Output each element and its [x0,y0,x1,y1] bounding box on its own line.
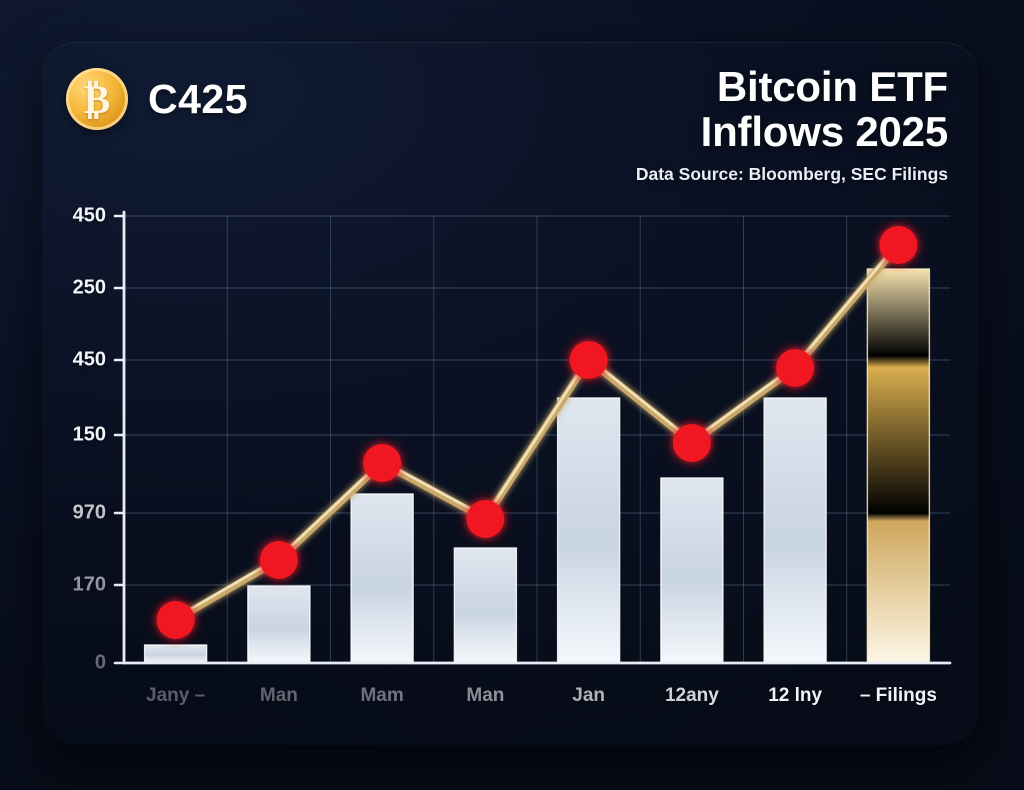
data-point-marker [879,226,917,264]
bar [558,398,620,663]
data-point-marker [260,541,298,579]
brand-name: C425 [148,76,248,123]
data-point-marker [570,341,608,379]
screenshot-root: ₿ C425 Bitcoin ETF Inflows 2025 Data Sou… [0,0,1024,790]
bar [248,586,310,663]
chart-card: ₿ C425 Bitcoin ETF Inflows 2025 Data Sou… [42,42,978,745]
bar [145,645,207,663]
title-block: Bitcoin ETF Inflows 2025 Data Source: Bl… [636,64,948,185]
bar [867,269,929,663]
data-point-marker [157,601,195,639]
brand-block: ₿ C425 [66,68,248,130]
data-point-marker [776,349,814,387]
data-point-marker [673,424,711,462]
bar [454,548,516,663]
bar [764,398,826,663]
data-point-marker [466,500,504,538]
page-title-line2: Inflows 2025 [636,109,948,154]
chart-subtitle: Data Source: Bloomberg, SEC Filings [636,164,948,185]
bitcoin-coin-icon: ₿ [66,68,128,130]
data-point-marker [363,444,401,482]
bar [661,478,723,663]
bar [351,494,413,663]
page-title-line1: Bitcoin ETF [636,64,948,109]
bitcoin-glyph: ₿ [66,68,128,130]
